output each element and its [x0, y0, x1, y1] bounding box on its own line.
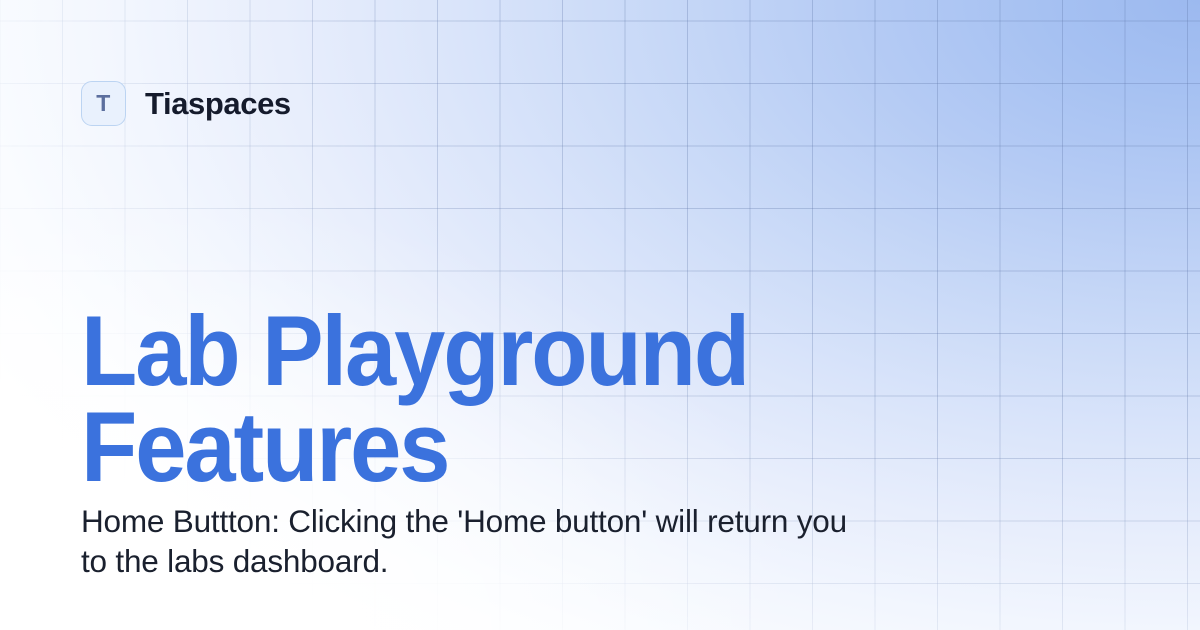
brand-lockup: T Tiaspaces: [81, 81, 291, 126]
brand-name: Tiaspaces: [145, 86, 291, 122]
logo-letter: T: [96, 92, 111, 115]
og-banner-card: T Tiaspaces Lab Playground Features Home…: [0, 0, 1200, 630]
banner-content: T Tiaspaces Lab Playground Features Home…: [0, 0, 1200, 630]
tiaspaces-logo-icon: T: [81, 81, 126, 126]
page-subtitle: Home Buttton: Clicking the 'Home button'…: [81, 501, 881, 581]
page-title: Lab Playground Features: [81, 303, 788, 495]
